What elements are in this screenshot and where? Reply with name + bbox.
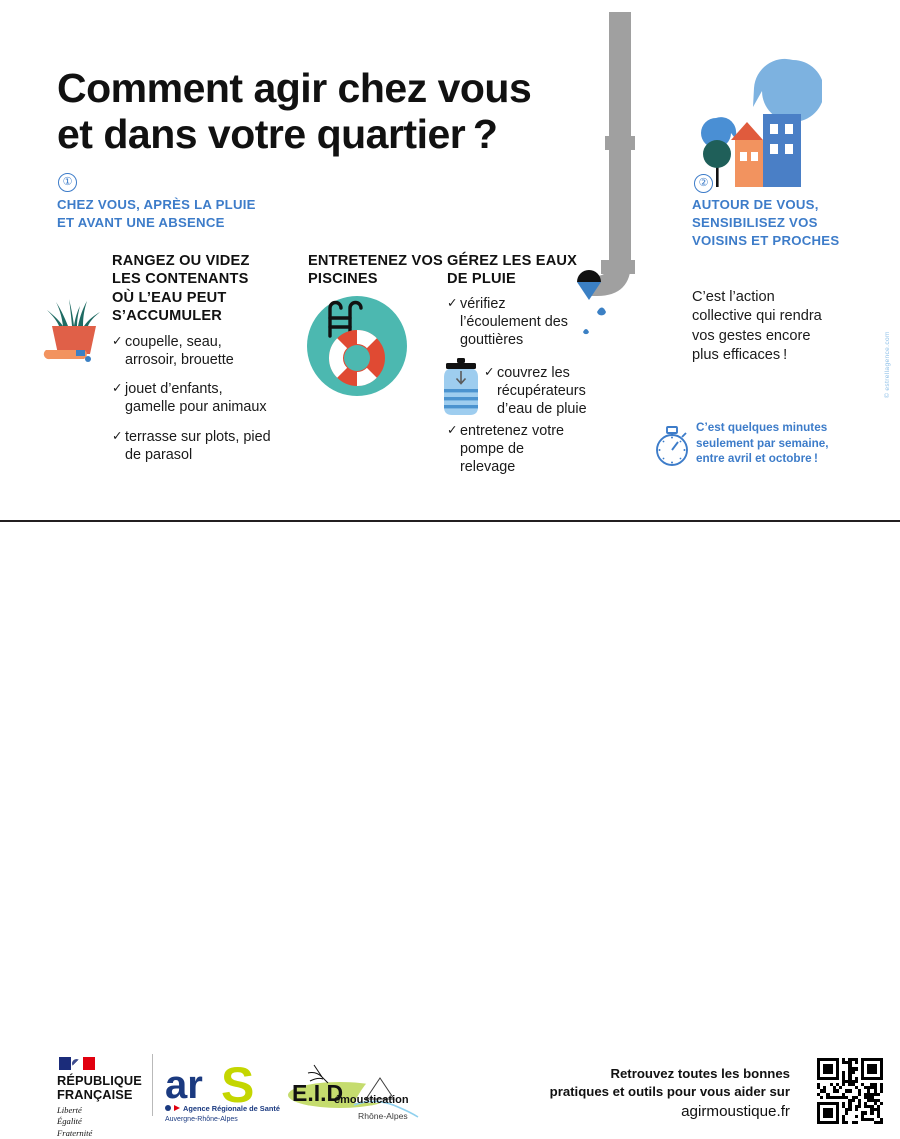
list-item: ✓ terrasse sur plots, pied de parasol (112, 428, 272, 464)
footer-separator (152, 1054, 153, 1116)
neighborhood-speech-bubbles-icon (690, 52, 822, 187)
republique-francaise-name: RÉPUBLIQUE FRANÇAISE (57, 1074, 167, 1101)
section-2-number: ② (694, 174, 713, 193)
section-2-body: C’est l’action collective qui rendra vos… (692, 288, 832, 366)
column-2-title: ENTRETENEZ VOS PISCINES (308, 252, 448, 289)
list-item: ✓ coupelle, seau, arrosoir, brouette (112, 333, 272, 369)
eid-subtitle: émoustication (334, 1094, 409, 1106)
section-1-heading-line-2: ET AVANT UNE ABSENCE (57, 214, 357, 232)
ars-subtitle: Agence Régionale de Santé (183, 1104, 280, 1113)
list-item: ✓ vérifiez l’écoulement des gouttières (447, 295, 572, 349)
plant-pot-saucer-icon (38, 292, 110, 364)
republique-francaise-logo: RÉPUBLIQUE FRANÇAISE Liberté Égalité Fra… (57, 1057, 167, 1139)
column-3-bullets-c: ✓ entretenez votre pompe de relevage (447, 422, 582, 487)
list-item: ✓ entretenez votre pompe de relevage (447, 422, 582, 476)
list-item-label: terrasse sur plots, pied de parasol (125, 428, 272, 464)
section-2-note: C’est quelques minutes seulement par sem… (696, 420, 836, 467)
list-item: ✓ couvrez les récupérateurs d’eau de plu… (484, 364, 614, 418)
title-line-2: et dans votre quartier ? (57, 112, 617, 158)
list-item-label: couvrez les récupérateurs d’eau de pluie (497, 364, 614, 418)
poster-canvas: Comment agir chez vous et dans votre qua… (0, 0, 900, 636)
check-icon: ✓ (484, 364, 497, 418)
swimming-pool-lifebuoy-icon (305, 294, 409, 398)
list-item: ✓ jouet d’enfants, gamelle pour animaux (112, 380, 272, 416)
list-item-label: coupelle, seau, arrosoir, brouette (125, 333, 272, 369)
qr-code-icon[interactable] (817, 1058, 883, 1124)
column-3-bullets-a: ✓ vérifiez l’écoulement des gouttières (447, 295, 572, 360)
section-1-heading: CHEZ VOUS, APRÈS LA PLUIE ET AVANT UNE A… (57, 196, 357, 231)
section-2-heading: AUTOUR DE VOUS, SENSIBILISEZ VOS VOISINS… (692, 196, 842, 250)
cta-url[interactable]: agirmoustique.fr (530, 1103, 790, 1120)
republique-francaise-motto: Liberté Égalité Fraternité (57, 1105, 167, 1139)
stopwatch-icon (653, 424, 691, 468)
check-icon: ✓ (112, 428, 125, 464)
section-1-number: ① (58, 173, 77, 192)
check-icon: ✓ (447, 422, 460, 476)
page-title: Comment agir chez vous et dans votre qua… (57, 66, 617, 158)
check-icon: ✓ (112, 380, 125, 416)
cta-block: Retrouvez toutes les bonnes pratiques et… (530, 1065, 790, 1120)
check-icon: ✓ (112, 333, 125, 369)
cta-line-2: pratiques et outils pour vous aider sur (530, 1083, 790, 1101)
credit-text: © estrellagence.com (884, 331, 891, 398)
title-line-1: Comment agir chez vous (57, 65, 531, 111)
column-3-bullets-b: ✓ couvrez les récupérateurs d’eau de plu… (484, 364, 614, 429)
check-icon: ✓ (447, 295, 460, 349)
ars-region: Auvergne-Rhône-Alpes (165, 1116, 238, 1123)
ars-wordmark-ar: ar (165, 1063, 203, 1107)
cta-line-1: Retrouvez toutes les bonnes (530, 1065, 790, 1083)
eid-logo: E.I.D émoustication Rhône-Alpes (288, 1059, 420, 1125)
list-item-label: jouet d’enfants, gamelle pour animaux (125, 380, 272, 416)
column-1-bullets: ✓ coupelle, seau, arrosoir, brouette ✓ j… (112, 333, 272, 475)
ars-logo: ar S Agence Régionale de Santé Auvergne-… (165, 1062, 287, 1124)
list-item-label: entretenez votre pompe de relevage (460, 422, 582, 476)
section-1-heading-line-1: CHEZ VOUS, APRÈS LA PLUIE (57, 196, 357, 214)
downspout-gutter-icon (575, 12, 655, 357)
french-flag-icon (59, 1057, 95, 1070)
eid-region: Rhône-Alpes (358, 1111, 408, 1121)
column-1-title: RANGEZ OU VIDEZ LES CONTENANTS OÙ L’EAU … (112, 252, 272, 326)
footer: RÉPUBLIQUE FRANÇAISE Liberté Égalité Fra… (0, 522, 900, 636)
list-item-label: vérifiez l’écoulement des gouttières (460, 295, 572, 349)
rain-barrel-icon (438, 357, 484, 419)
